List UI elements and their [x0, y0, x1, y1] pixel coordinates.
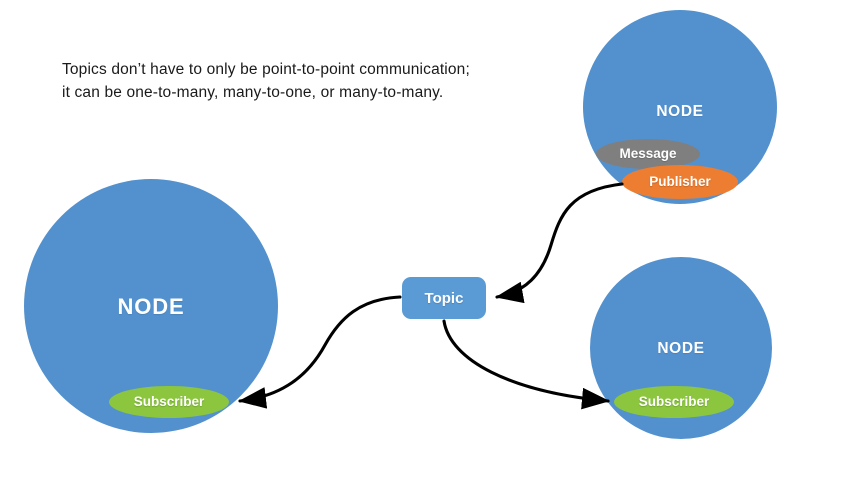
arrow-publisher-to-topic — [497, 184, 622, 297]
left-subscriber-label: Subscriber — [109, 394, 229, 409]
caption-text: Topics don’t have to only be point-to-po… — [62, 58, 482, 105]
diagram-canvas: Topics don’t have to only be point-to-po… — [0, 0, 854, 480]
publisher-node-label: NODE — [620, 103, 740, 121]
left-subscriber-node-label: NODE — [71, 294, 231, 320]
message-label: Message — [588, 146, 708, 161]
right-subscriber-label: Subscriber — [614, 394, 734, 409]
publisher-label: Publisher — [620, 174, 740, 189]
topic-label: Topic — [402, 290, 486, 307]
arrow-topic-to-right-subscriber — [444, 321, 608, 401]
right-subscriber-node-label: NODE — [621, 340, 741, 358]
